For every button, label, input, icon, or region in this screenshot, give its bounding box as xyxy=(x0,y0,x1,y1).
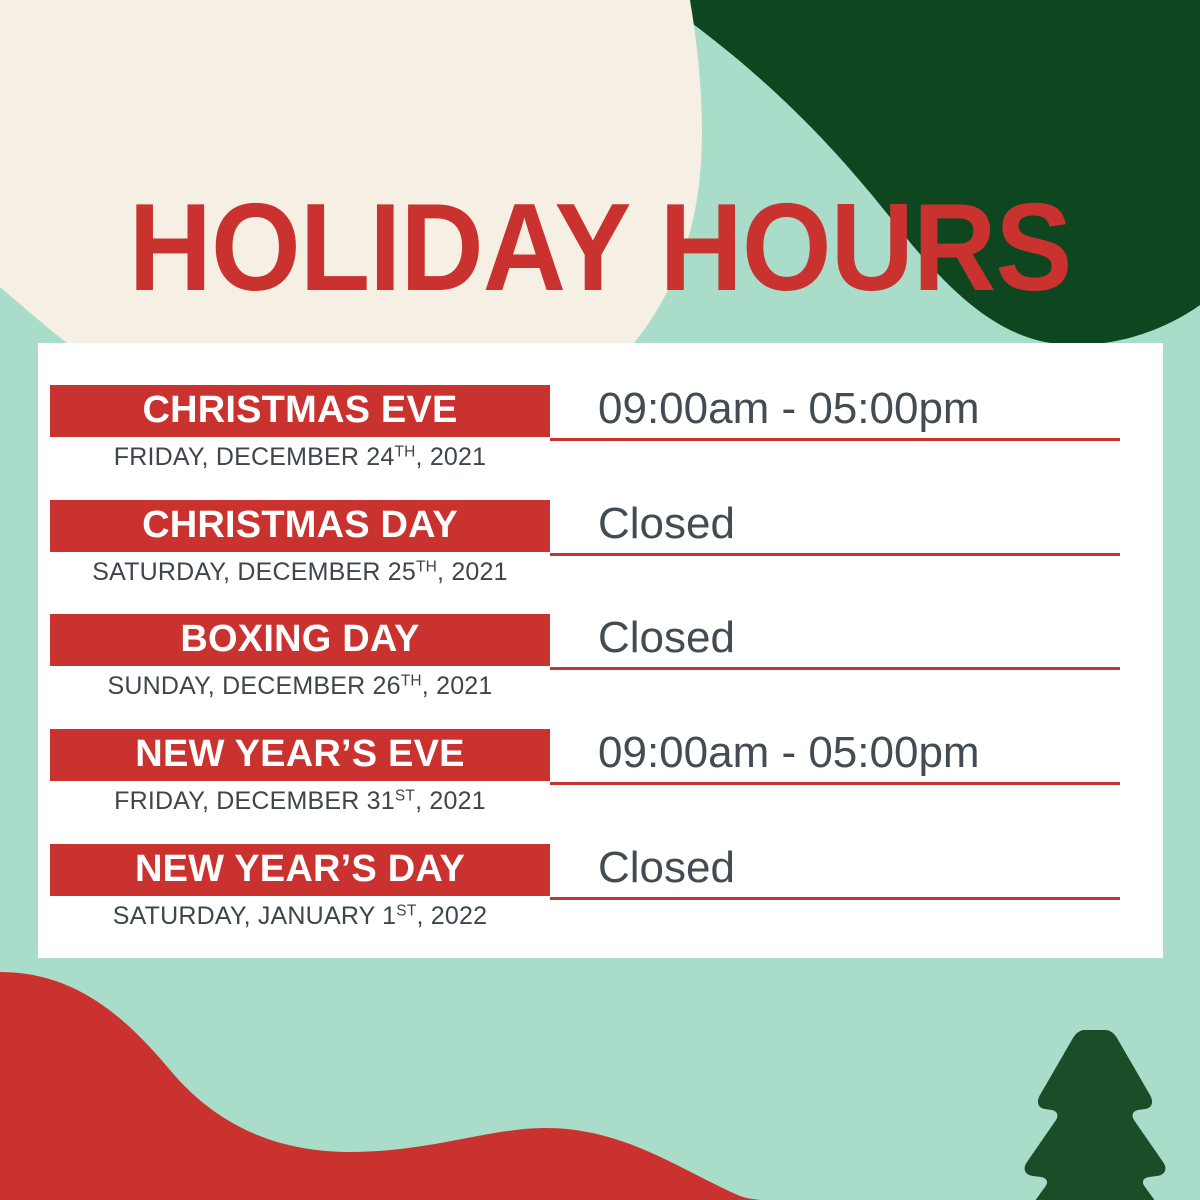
holiday-date: FRIDAY, DECEMBER 31ST, 2021 xyxy=(50,787,550,816)
holiday-name-label: CHRISTMAS DAY xyxy=(142,506,458,544)
holiday-name-chip: CHRISTMAS EVE xyxy=(50,385,550,437)
row-underline xyxy=(550,667,1120,670)
holiday-hours-value: Closed xyxy=(598,840,1158,896)
holiday-name-chip: BOXING DAY xyxy=(50,614,550,666)
holiday-name-label: NEW YEAR’S EVE xyxy=(135,735,464,773)
row-underline xyxy=(550,782,1120,785)
row-underline xyxy=(550,438,1120,441)
holiday-date: SUNDAY, DECEMBER 26TH, 2021 xyxy=(50,672,550,701)
date-prefix: SATURDAY, DECEMBER 25 xyxy=(92,558,416,586)
holiday-hours-poster: HOLIDAY HOURS CHRISTMAS EVE FRIDAY, DECE… xyxy=(0,0,1200,1200)
holiday-name-chip: CHRISTMAS DAY xyxy=(50,500,550,552)
holiday-name-label: BOXING DAY xyxy=(180,620,419,658)
date-suffix: , 2021 xyxy=(437,558,508,586)
page-title: HOLIDAY HOURS xyxy=(42,186,1158,310)
date-suffix: , 2022 xyxy=(417,902,488,930)
date-suffix: , 2021 xyxy=(416,443,487,471)
holiday-hours-value: 09:00am - 05:00pm xyxy=(598,381,1158,437)
holiday-hours-value: 09:00am - 05:00pm xyxy=(598,725,1158,781)
holiday-hours-value: Closed xyxy=(598,610,1158,666)
holiday-name-label: NEW YEAR’S DAY xyxy=(135,850,465,888)
row-underline xyxy=(550,553,1120,556)
date-ordinal: TH xyxy=(394,443,415,460)
holiday-name-chip: NEW YEAR’S EVE xyxy=(50,729,550,781)
holiday-name-label: CHRISTMAS EVE xyxy=(142,391,457,429)
table-row: NEW YEAR’S EVE FRIDAY, DECEMBER 31ST, 20… xyxy=(38,717,1163,832)
date-ordinal: TH xyxy=(416,558,437,575)
table-row: NEW YEAR’S DAY SATURDAY, JANUARY 1ST, 20… xyxy=(38,832,1163,947)
date-ordinal: TH xyxy=(401,672,422,689)
date-prefix: SATURDAY, JANUARY 1 xyxy=(113,902,397,930)
date-ordinal: ST xyxy=(395,787,415,804)
holiday-hours-value: Closed xyxy=(598,496,1158,552)
date-prefix: FRIDAY, DECEMBER 31 xyxy=(114,787,395,815)
holiday-date: SATURDAY, JANUARY 1ST, 2022 xyxy=(50,902,550,931)
hours-card: CHRISTMAS EVE FRIDAY, DECEMBER 24TH, 202… xyxy=(38,343,1163,958)
holiday-date: SATURDAY, DECEMBER 25TH, 2021 xyxy=(50,558,550,587)
date-prefix: SUNDAY, DECEMBER 26 xyxy=(107,672,400,700)
table-row: CHRISTMAS DAY SATURDAY, DECEMBER 25TH, 2… xyxy=(38,488,1163,603)
table-row: BOXING DAY SUNDAY, DECEMBER 26TH, 2021 C… xyxy=(38,602,1163,717)
table-row: CHRISTMAS EVE FRIDAY, DECEMBER 24TH, 202… xyxy=(38,373,1163,488)
row-underline xyxy=(550,897,1120,900)
date-ordinal: ST xyxy=(396,902,416,919)
date-suffix: , 2021 xyxy=(422,672,493,700)
date-prefix: FRIDAY, DECEMBER 24 xyxy=(114,443,395,471)
holiday-name-chip: NEW YEAR’S DAY xyxy=(50,844,550,896)
holiday-date: FRIDAY, DECEMBER 24TH, 2021 xyxy=(50,443,550,472)
date-suffix: , 2021 xyxy=(415,787,486,815)
